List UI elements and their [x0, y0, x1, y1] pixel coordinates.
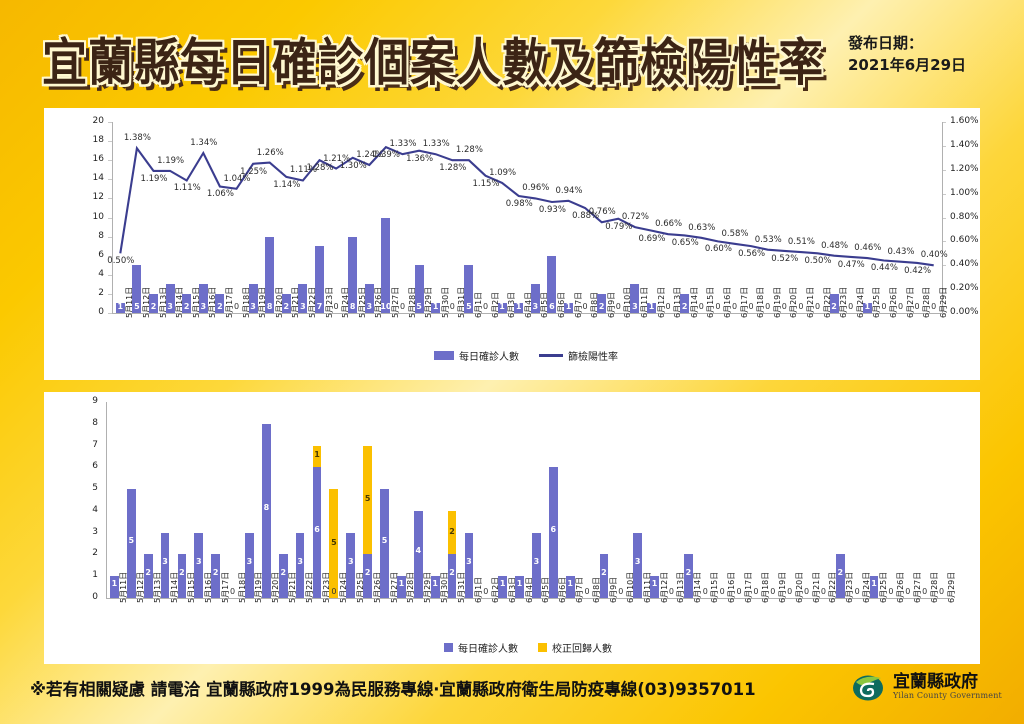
chart-panel-bottom: 012345678915月11日55月12日25月13日35月14日25月15日… — [44, 392, 980, 664]
line-point-label: 0.50% — [107, 256, 134, 266]
bar-value-label-daily: 3 — [629, 557, 647, 566]
line-point-label: 0.76% — [589, 207, 616, 217]
bar-value-label-daily: 3 — [527, 557, 545, 566]
line-point-label: 0.46% — [854, 243, 881, 253]
line-point-label: 0.60% — [705, 244, 732, 254]
y-axis-tick: 3 — [70, 527, 98, 537]
yilan-swirl-logo-icon — [852, 672, 886, 702]
line-point-label: 0.96% — [522, 183, 549, 193]
x-axis-tick-label: 6月29日 — [946, 572, 957, 603]
publish-date-label: 發布日期： — [848, 33, 966, 55]
y-axis-line — [106, 402, 107, 598]
y-axis-tick: 8 — [70, 418, 98, 428]
publish-date-block: 發布日期： 2021年6月29日 — [848, 33, 966, 77]
line-point-label: 0.40% — [921, 250, 948, 260]
line-point-label: 0.52% — [771, 254, 798, 264]
publish-date-value: 2021年6月29日 — [848, 55, 966, 77]
legend-item-daily-cases: 每日確診人數 — [434, 348, 519, 363]
line-point-label: 1.30% — [340, 161, 367, 171]
line-point-label: 1.11% — [174, 183, 201, 193]
line-point-label: 1.33% — [423, 139, 450, 149]
y-axis-tick: 9 — [70, 396, 98, 406]
line-point-label: 0.50% — [805, 256, 832, 266]
line-point-label: 1.19% — [157, 156, 184, 166]
bar-value-label-daily: 5 — [122, 536, 140, 545]
legend-label-daily-cases: 每日確診人數 — [458, 640, 518, 655]
bar-value-label-daily: 3 — [190, 557, 208, 566]
line-point-label: 1.38% — [124, 133, 151, 143]
bar-value-label-daily: 4 — [409, 546, 427, 555]
bar-value-label-daily: 8 — [257, 503, 275, 512]
line-point-label: 1.34% — [190, 138, 217, 148]
line-point-label: 0.43% — [888, 247, 915, 257]
line-point-label: 1.39% — [373, 150, 400, 160]
bar-value-label-daily: 6 — [544, 525, 562, 534]
header-banner: 宜蘭縣每日確診個案人數及篩檢陽性率 發布日期： 2021年6月29日 — [0, 0, 1024, 100]
line-point-label: 0.63% — [688, 223, 715, 233]
line-point-label: 1.26% — [257, 148, 284, 158]
legend-item-daily-cases: 每日確診人數 — [444, 640, 518, 655]
line-point-label: 1.28% — [439, 163, 466, 173]
bar-value-label-daily: 3 — [156, 557, 174, 566]
bar-value-label-corrected: 2 — [443, 527, 461, 536]
line-point-label: 1.25% — [240, 167, 267, 177]
chart-legend: 每日確診人數校正回歸人數 — [444, 640, 612, 655]
y-axis-tick: 0 — [70, 592, 98, 602]
line-point-label: 0.93% — [539, 205, 566, 215]
legend-swatch-bar — [434, 351, 454, 360]
y-axis-tick: 7 — [70, 440, 98, 450]
brand-logo: 宜蘭縣政府 Yilan County Government — [852, 672, 1002, 702]
line-point-label: 0.94% — [556, 186, 583, 196]
line-point-label: 1.06% — [207, 189, 234, 199]
line-point-label: 0.66% — [655, 219, 682, 229]
line-point-label: 0.44% — [871, 263, 898, 273]
line-point-label: 0.58% — [722, 229, 749, 239]
bar-value-label-daily: 3 — [460, 557, 478, 566]
line-point-label: 0.47% — [838, 260, 865, 270]
line-point-label: 1.28% — [456, 145, 483, 155]
line-point-label: 0.72% — [622, 212, 649, 222]
line-point-label: 0.65% — [672, 238, 699, 248]
y-axis-tick: 5 — [70, 483, 98, 493]
line-point-label: 0.98% — [506, 199, 533, 209]
legend-item-positivity-rate: 篩檢陽性率 — [539, 348, 618, 363]
y-axis-tick: 4 — [70, 505, 98, 515]
line-point-label: 0.53% — [755, 235, 782, 245]
line-point-label: 0.79% — [605, 222, 632, 232]
line-point-label: 1.14% — [273, 180, 300, 190]
bar-value-label-daily: 3 — [342, 557, 360, 566]
bar-value-label-corrected: 5 — [359, 494, 377, 503]
legend-label-corrected-cases: 校正回歸人數 — [552, 640, 612, 655]
line-point-label: 1.28% — [307, 163, 334, 173]
chart-panel-top: 024681012141618200.00%0.20%0.40%0.60%0.8… — [44, 108, 980, 380]
page-title: 宜蘭縣每日確診個案人數及篩檢陽性率 — [42, 22, 824, 95]
line-point-label: 0.42% — [904, 266, 931, 276]
line-point-label: 0.69% — [639, 234, 666, 244]
bar-value-label-corrected: 1 — [308, 450, 326, 459]
line-point-label: 1.09% — [489, 168, 516, 178]
bar-value-label-daily: 3 — [291, 557, 309, 566]
line-point-label: 1.19% — [141, 174, 168, 184]
line-point-label: 1.33% — [390, 139, 417, 149]
y-axis-tick: 1 — [70, 570, 98, 580]
chart-legend: 每日確診人數篩檢陽性率 — [434, 348, 618, 363]
bar-value-label-corrected: 5 — [325, 538, 343, 547]
line-point-label: 1.15% — [473, 179, 500, 189]
y-axis-tick: 2 — [70, 548, 98, 558]
line-point-label: 0.51% — [788, 237, 815, 247]
brand-name-en: Yilan County Government — [893, 692, 1002, 700]
line-point-label: 0.56% — [738, 249, 765, 259]
legend-label-positivity-rate: 篩檢陽性率 — [568, 348, 618, 363]
legend-swatch-corrected — [538, 643, 547, 652]
line-point-label: 0.48% — [821, 241, 848, 251]
bar-value-label-daily: 3 — [240, 557, 258, 566]
line-point-label: 1.36% — [406, 154, 433, 164]
bar-value-label-daily: 5 — [376, 536, 394, 545]
footer-note: ※若有相關疑慮 請電洽 宜蘭縣政府1999為民服務專線‧宜蘭縣政府衛生局防疫專線… — [30, 676, 756, 700]
y-axis-tick: 6 — [70, 461, 98, 471]
brand-name-cn: 宜蘭縣政府 — [893, 674, 1002, 692]
legend-label-daily-cases: 每日確診人數 — [459, 348, 519, 363]
bar-value-label-daily: 6 — [308, 525, 326, 534]
legend-swatch-daily — [444, 643, 453, 652]
legend-item-corrected-cases: 校正回歸人數 — [538, 640, 612, 655]
legend-swatch-line — [539, 354, 563, 357]
